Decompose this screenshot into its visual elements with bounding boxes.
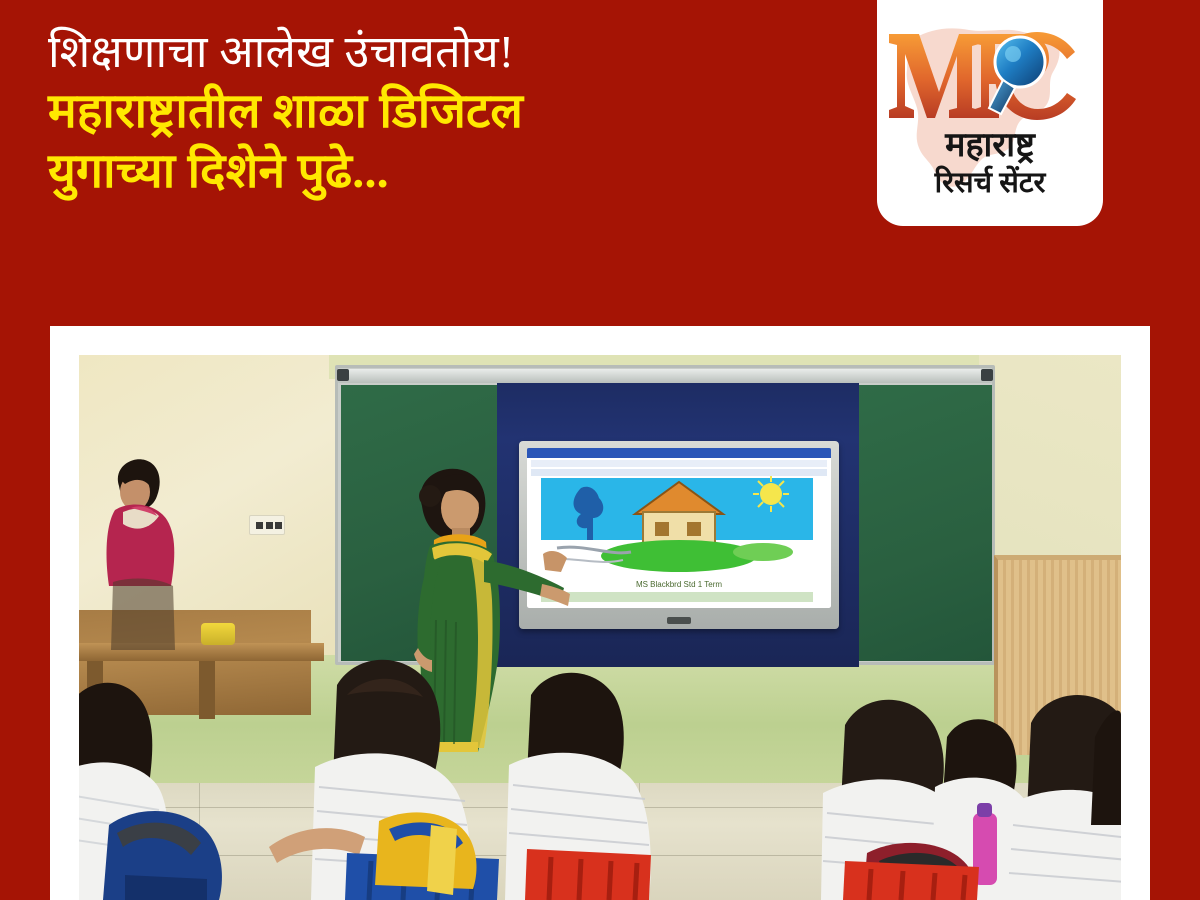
students-group	[79, 355, 1121, 900]
red-chair	[525, 849, 651, 900]
mrc-logo-icon: महाराष्ट्र रिसर्च सेंटर	[877, 0, 1103, 226]
mrc-logo: महाराष्ट्र रिसर्च सेंटर	[877, 0, 1103, 226]
headline-line-1: शिक्षणाचा आलेख उंचावतोय!	[48, 26, 858, 78]
classroom-scene: MS Blackbrd Std 1 Term	[79, 355, 1121, 900]
logo-name-line1: महाराष्ट्र	[944, 127, 1036, 164]
red-chair	[843, 861, 979, 900]
blue-backpack	[103, 811, 222, 900]
headline-block: शिक्षणाचा आलेख उंचावतोय! महाराष्ट्रातील …	[48, 26, 858, 200]
logo-name-line2: रिसर्च सेंटर	[934, 165, 1047, 199]
mrc-logo-card[interactable]: महाराष्ट्र रिसर्च सेंटर	[877, 0, 1103, 226]
classroom-photo: MS Blackbrd Std 1 Term	[79, 355, 1121, 900]
headline-line-2: महाराष्ट्रातील शाळा डिजिटल	[48, 84, 858, 140]
poster-root: शिक्षणाचा आलेख उंचावतोय! महाराष्ट्रातील …	[0, 0, 1200, 900]
headline-line-3: युगाच्या दिशेने पुढे...	[48, 144, 858, 200]
photo-frame: MS Blackbrd Std 1 Term	[50, 326, 1150, 900]
